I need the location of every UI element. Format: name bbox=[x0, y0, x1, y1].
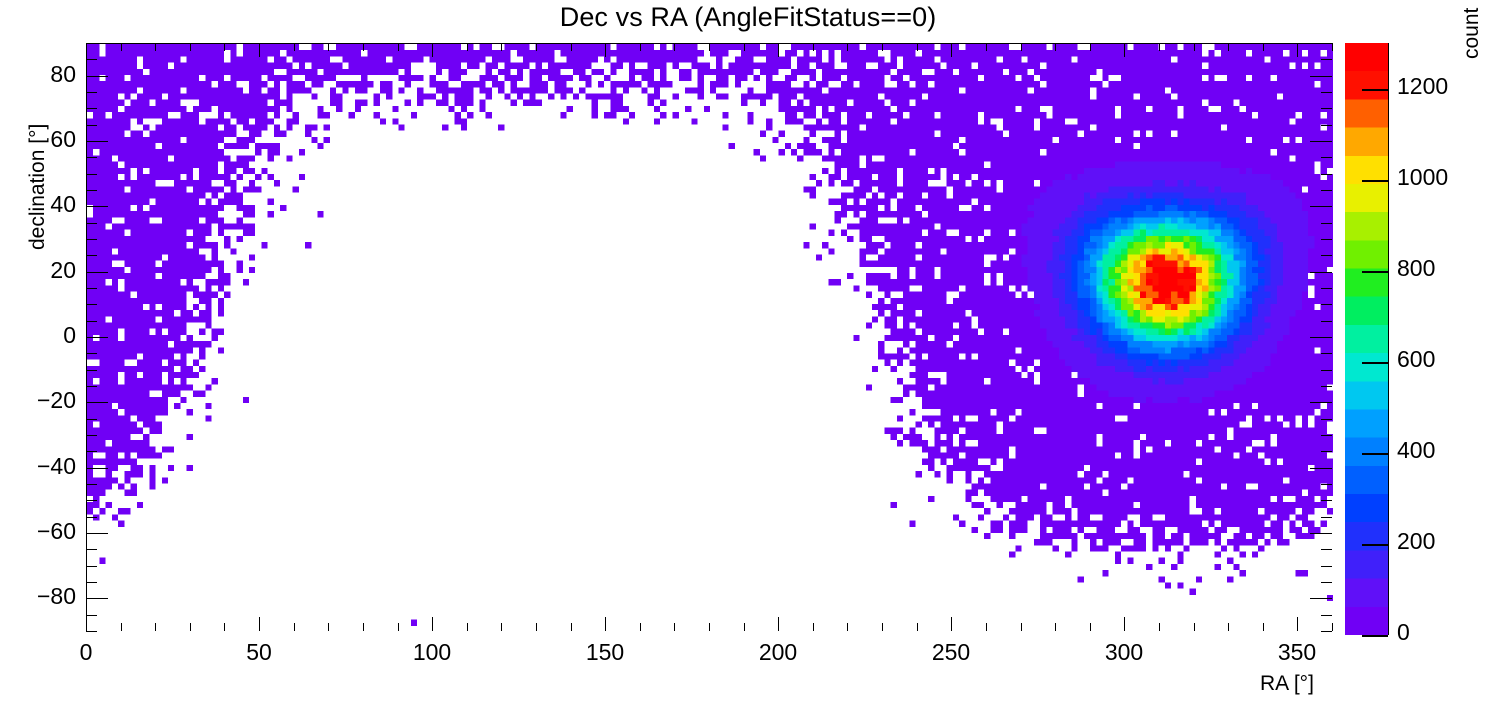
colorbar-tick-label: 800 bbox=[1397, 255, 1435, 282]
y-tick-minor bbox=[86, 272, 108, 273]
x-tick-top bbox=[501, 43, 502, 51]
y-tick-minor bbox=[86, 223, 97, 224]
x-tick-top bbox=[398, 43, 399, 51]
x-tick-minor bbox=[882, 623, 883, 631]
y-tick-right bbox=[1321, 239, 1332, 240]
y-tick-minor bbox=[86, 108, 97, 109]
x-tick-minor bbox=[1055, 623, 1056, 631]
x-tick-label: 50 bbox=[199, 639, 319, 666]
x-axis-label: RA [°] bbox=[1260, 672, 1314, 696]
x-tick-minor bbox=[328, 623, 329, 631]
colorbar-tick-label: 0 bbox=[1397, 619, 1410, 646]
x-tick-label: 200 bbox=[718, 639, 838, 666]
x-tick-top bbox=[224, 43, 225, 51]
x-tick-top bbox=[813, 43, 814, 51]
colorbar-tick bbox=[1362, 89, 1388, 91]
y-tick-right bbox=[1321, 125, 1332, 126]
x-tick-minor bbox=[986, 623, 987, 631]
x-tick-minor bbox=[467, 623, 468, 631]
x-tick-top bbox=[1194, 43, 1195, 51]
x-tick-top bbox=[674, 43, 675, 51]
y-tick-minor bbox=[86, 386, 97, 387]
x-tick-minor bbox=[121, 623, 122, 631]
y-tick-right bbox=[1321, 517, 1332, 518]
y-tick-right bbox=[1321, 59, 1332, 60]
y-tick-minor bbox=[86, 566, 97, 567]
y-tick-label: 0 bbox=[0, 322, 76, 349]
y-tick-right bbox=[1321, 255, 1332, 256]
y-tick-minor bbox=[86, 582, 97, 583]
y-tick-right bbox=[1321, 174, 1332, 175]
x-tick-top bbox=[744, 43, 745, 51]
x-tick-top bbox=[640, 43, 641, 51]
y-tick-minor bbox=[86, 451, 97, 452]
x-tick-minor bbox=[501, 623, 502, 631]
x-tick-minor bbox=[744, 623, 745, 631]
x-tick-top bbox=[190, 43, 191, 51]
x-tick-top bbox=[1297, 43, 1298, 57]
y-tick-minor bbox=[86, 419, 97, 420]
y-tick-minor bbox=[86, 631, 97, 632]
x-tick-minor bbox=[847, 623, 848, 631]
x-tick-top bbox=[86, 43, 87, 57]
colorbar-gradient bbox=[1345, 43, 1388, 635]
x-tick-top bbox=[1332, 43, 1333, 51]
x-tick-top bbox=[1021, 43, 1022, 51]
y-tick-right bbox=[1321, 223, 1332, 224]
x-tick-label: 0 bbox=[26, 639, 146, 666]
x-tick-minor bbox=[1021, 623, 1022, 631]
y-tick-minor bbox=[86, 615, 97, 616]
y-tick-label: −40 bbox=[0, 453, 76, 480]
y-tick-minor bbox=[86, 353, 97, 354]
x-tick-minor bbox=[259, 617, 260, 631]
x-tick-top bbox=[363, 43, 364, 51]
x-tick-top bbox=[605, 43, 606, 57]
colorbar-tick bbox=[1362, 362, 1388, 364]
y-tick-right bbox=[1321, 484, 1332, 485]
x-tick-minor bbox=[674, 623, 675, 631]
y-tick-right bbox=[1321, 370, 1332, 371]
y-tick-right bbox=[1321, 353, 1332, 354]
x-tick-minor bbox=[1332, 623, 1333, 631]
y-tick-minor bbox=[86, 43, 97, 44]
colorbar-tick-label: 400 bbox=[1397, 437, 1435, 464]
y-tick-minor bbox=[86, 468, 108, 469]
x-tick-minor bbox=[363, 623, 364, 631]
y-tick-minor bbox=[86, 549, 97, 550]
y-tick-right bbox=[1321, 451, 1332, 452]
y-tick-right bbox=[1310, 598, 1332, 599]
x-tick-minor bbox=[1090, 623, 1091, 631]
x-tick-top bbox=[1159, 43, 1160, 51]
heatmap-canvas bbox=[87, 44, 1333, 632]
x-tick-top bbox=[432, 43, 433, 57]
y-tick-minor bbox=[86, 92, 97, 93]
x-tick-top bbox=[917, 43, 918, 51]
x-tick-minor bbox=[1228, 623, 1229, 631]
x-tick-minor bbox=[536, 623, 537, 631]
x-tick-minor bbox=[1194, 623, 1195, 631]
y-tick-right bbox=[1321, 157, 1332, 158]
y-tick-right bbox=[1321, 500, 1332, 501]
x-tick-top bbox=[328, 43, 329, 51]
colorbar-axis-line bbox=[1388, 43, 1389, 635]
x-tick-minor bbox=[571, 623, 572, 631]
y-tick-minor bbox=[86, 304, 97, 305]
x-tick-minor bbox=[640, 623, 641, 631]
x-tick-top bbox=[1055, 43, 1056, 51]
x-tick-minor bbox=[155, 623, 156, 631]
x-tick-minor bbox=[813, 623, 814, 631]
y-tick-right bbox=[1310, 272, 1332, 273]
y-tick-minor bbox=[86, 517, 97, 518]
y-tick-right bbox=[1321, 549, 1332, 550]
x-tick-label: 350 bbox=[1237, 639, 1357, 666]
x-tick-top bbox=[1228, 43, 1229, 51]
y-tick-right bbox=[1321, 108, 1332, 109]
y-tick-minor bbox=[86, 337, 108, 338]
y-tick-minor bbox=[86, 435, 97, 436]
x-tick-minor bbox=[1297, 617, 1298, 631]
x-tick-top bbox=[847, 43, 848, 51]
x-tick-top bbox=[259, 43, 260, 57]
x-tick-top bbox=[882, 43, 883, 51]
y-tick-minor bbox=[86, 76, 108, 77]
plot-frame bbox=[86, 43, 1332, 631]
x-tick-top bbox=[121, 43, 122, 51]
y-tick-minor bbox=[86, 370, 97, 371]
y-tick-label: 40 bbox=[0, 191, 76, 218]
x-tick-minor bbox=[917, 623, 918, 631]
y-tick-minor bbox=[86, 239, 97, 240]
x-tick-minor bbox=[294, 623, 295, 631]
x-tick-minor bbox=[190, 623, 191, 631]
x-tick-label: 250 bbox=[891, 639, 1011, 666]
y-tick-right bbox=[1310, 206, 1332, 207]
colorbar-tick bbox=[1362, 453, 1388, 455]
x-tick-label: 150 bbox=[545, 639, 665, 666]
y-tick-right bbox=[1321, 631, 1332, 632]
y-tick-right bbox=[1321, 321, 1332, 322]
y-tick-minor bbox=[86, 125, 97, 126]
y-tick-right bbox=[1321, 43, 1332, 44]
colorbar-tick-label: 600 bbox=[1397, 346, 1435, 373]
y-tick-right bbox=[1310, 76, 1332, 77]
y-tick-right bbox=[1321, 190, 1332, 191]
x-tick-top bbox=[536, 43, 537, 51]
y-tick-right bbox=[1310, 141, 1332, 142]
y-tick-right bbox=[1321, 435, 1332, 436]
x-tick-top bbox=[1124, 43, 1125, 57]
y-tick-right bbox=[1321, 92, 1332, 93]
x-tick-top bbox=[1090, 43, 1091, 51]
y-tick-minor bbox=[86, 59, 97, 60]
y-tick-minor bbox=[86, 288, 97, 289]
x-tick-label: 300 bbox=[1064, 639, 1184, 666]
colorbar-tick bbox=[1362, 544, 1388, 546]
colorbar-tick-label: 1200 bbox=[1397, 73, 1448, 100]
y-tick-minor bbox=[86, 321, 97, 322]
y-tick-right bbox=[1321, 615, 1332, 616]
y-tick-label: −60 bbox=[0, 518, 76, 545]
x-tick-top bbox=[1263, 43, 1264, 51]
y-tick-label: 80 bbox=[0, 61, 76, 88]
x-tick-minor bbox=[1159, 623, 1160, 631]
y-tick-right bbox=[1310, 402, 1332, 403]
colorbar bbox=[1345, 43, 1388, 635]
y-tick-minor bbox=[86, 157, 97, 158]
page-title: Dec vs RA (AngleFitStatus==0) bbox=[0, 2, 1496, 33]
y-tick-right bbox=[1321, 566, 1332, 567]
y-tick-label: −20 bbox=[0, 387, 76, 414]
x-tick-top bbox=[294, 43, 295, 51]
y-tick-right bbox=[1310, 337, 1332, 338]
colorbar-tick bbox=[1362, 180, 1388, 182]
y-tick-right bbox=[1321, 288, 1332, 289]
colorbar-tick-label: 200 bbox=[1397, 528, 1435, 555]
x-tick-minor bbox=[1124, 617, 1125, 631]
y-tick-minor bbox=[86, 500, 97, 501]
x-tick-minor bbox=[778, 617, 779, 631]
y-tick-right bbox=[1321, 386, 1332, 387]
x-tick-minor bbox=[1263, 623, 1264, 631]
x-tick-minor bbox=[432, 617, 433, 631]
y-tick-minor bbox=[86, 190, 97, 191]
y-tick-right bbox=[1310, 468, 1332, 469]
x-tick-top bbox=[155, 43, 156, 51]
x-tick-minor bbox=[951, 617, 952, 631]
y-tick-right bbox=[1321, 582, 1332, 583]
x-tick-top bbox=[467, 43, 468, 51]
y-tick-label: 60 bbox=[0, 126, 76, 153]
x-tick-top bbox=[951, 43, 952, 57]
y-tick-minor bbox=[86, 484, 97, 485]
y-tick-minor bbox=[86, 206, 108, 207]
y-tick-label: 20 bbox=[0, 257, 76, 284]
x-tick-top bbox=[709, 43, 710, 51]
y-tick-minor bbox=[86, 255, 97, 256]
colorbar-tick bbox=[1362, 635, 1388, 637]
x-tick-label: 100 bbox=[372, 639, 492, 666]
colorbar-tick-label: 1000 bbox=[1397, 164, 1448, 191]
x-tick-top bbox=[571, 43, 572, 51]
x-tick-top bbox=[986, 43, 987, 51]
colorbar-tick bbox=[1362, 271, 1388, 273]
y-tick-right bbox=[1321, 304, 1332, 305]
y-tick-minor bbox=[86, 141, 108, 142]
y-tick-right bbox=[1321, 419, 1332, 420]
x-tick-top bbox=[778, 43, 779, 57]
y-tick-minor bbox=[86, 402, 108, 403]
colorbar-label: count bbox=[1460, 8, 1484, 59]
y-tick-minor bbox=[86, 598, 108, 599]
x-tick-minor bbox=[86, 617, 87, 631]
y-tick-minor bbox=[86, 533, 108, 534]
x-tick-minor bbox=[224, 623, 225, 631]
x-tick-minor bbox=[605, 617, 606, 631]
x-tick-minor bbox=[709, 623, 710, 631]
y-tick-right bbox=[1310, 533, 1332, 534]
y-tick-label: −80 bbox=[0, 583, 76, 610]
x-tick-minor bbox=[398, 623, 399, 631]
y-tick-minor bbox=[86, 174, 97, 175]
